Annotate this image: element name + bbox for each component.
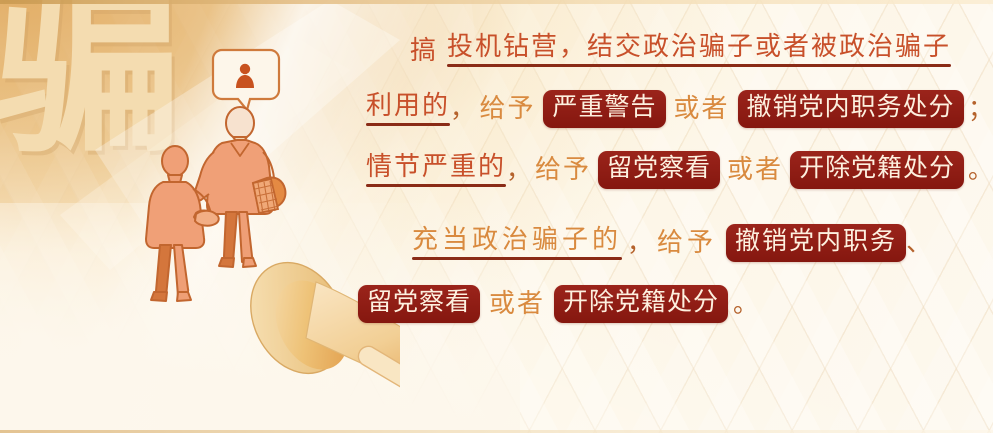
p2-line1-verb: 给予 bbox=[657, 230, 717, 256]
p2-line2-end: 。 bbox=[733, 292, 758, 317]
p1-line3-conj: 或者 bbox=[727, 157, 783, 183]
penalty-badge-remove-party-post: 撤销党内职务处分 bbox=[738, 90, 964, 128]
p1-line2: 利用的 ， 给予 严重警告 或者 撤销党内职务处分 ； bbox=[366, 90, 993, 128]
p1-line1: 搞 投机钻营，结交政治骗子或者被政治骗子 bbox=[410, 34, 993, 67]
policy-text-block: 搞 投机钻营，结交政治骗子或者被政治骗子 利用的 ， 给予 严重警告 或者 撤销… bbox=[352, 34, 993, 323]
p1-line2-conj: 或者 bbox=[674, 96, 730, 122]
illustration-scene bbox=[0, 0, 400, 433]
p2-line1-comma: ， bbox=[627, 231, 652, 256]
handshake bbox=[195, 211, 219, 226]
p1-line2-verb: 给予 bbox=[479, 96, 535, 122]
p2-line2-conj: 或者 bbox=[489, 291, 545, 317]
p1-line2-end: ； bbox=[968, 97, 993, 122]
p2-line1-end: 、 bbox=[906, 231, 931, 256]
p1-line3: 情节严重的 ， 给予 留党察看 或者 开除党籍处分 。 bbox=[366, 151, 993, 189]
p1-line3-end: 。 bbox=[968, 158, 993, 183]
penalty-badge-probation-2: 留党察看 bbox=[358, 285, 480, 323]
penalty-badge-expulsion-2: 开除党籍处分 bbox=[554, 285, 728, 323]
p2-line1-underlined: 充当政治骗子的 bbox=[412, 227, 622, 260]
p2-line2: 留党察看 或者 开除党籍处分 。 bbox=[358, 285, 993, 323]
p1-line3-comma: ， bbox=[506, 158, 531, 183]
p1-line2-comma: ， bbox=[450, 97, 475, 122]
money-bag bbox=[253, 178, 285, 213]
penalty-badge-serious-warning: 严重警告 bbox=[543, 90, 665, 128]
p2-line1: 充当政治骗子的 ， 给予 撤销党内职务 、 bbox=[412, 224, 993, 262]
penalty-badge-expulsion: 开除党籍处分 bbox=[790, 151, 964, 189]
p1-line2-underlined: 利用的 bbox=[366, 93, 450, 126]
p1-line1-lead: 搞 bbox=[410, 38, 438, 64]
penalty-badge-probation: 留党察看 bbox=[598, 151, 720, 189]
poster-canvas: 骗 bbox=[0, 0, 993, 433]
p1-line1-underlined: 投机钻营，结交政治骗子或者被政治骗子 bbox=[447, 34, 951, 67]
p1-line3-underlined: 情节严重的 bbox=[366, 154, 506, 187]
penalty-badge-remove-party-post-2: 撤销党内职务 bbox=[726, 224, 906, 262]
top-edge-band bbox=[0, 0, 993, 4]
p1-line3-verb: 给予 bbox=[535, 157, 591, 183]
